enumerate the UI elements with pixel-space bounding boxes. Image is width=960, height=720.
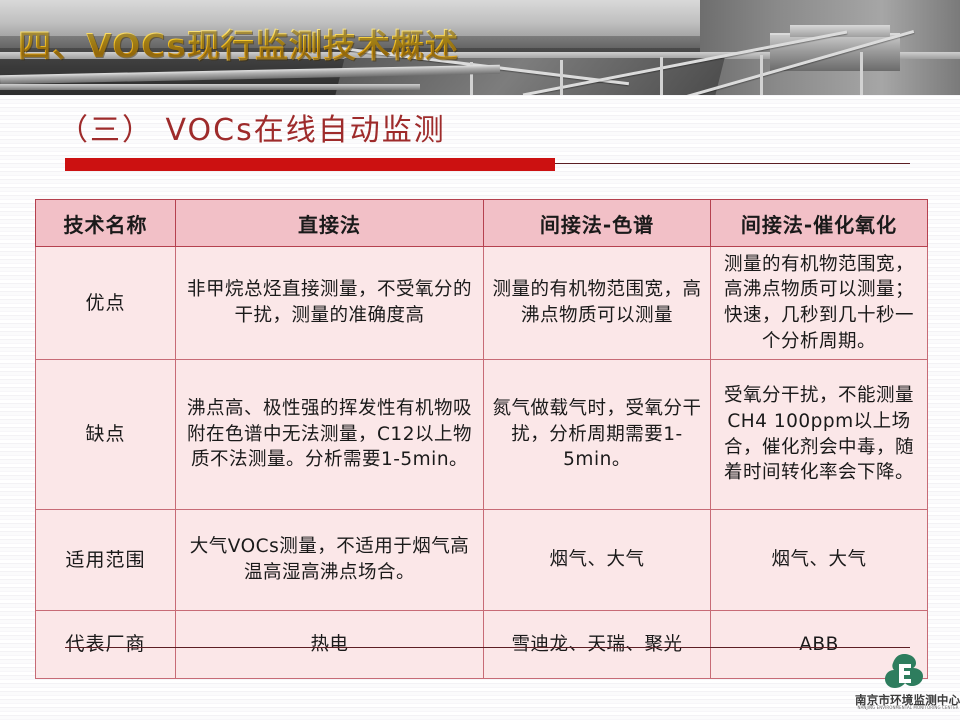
column-header-technique: 技术名称 (36, 200, 176, 247)
table-row: 适用范围 大气VOCs测量，不适用于烟气高温高湿高沸点场合。 烟气、大气 烟气、… (36, 510, 928, 611)
row-label-scope: 适用范围 (36, 510, 176, 611)
cell-scope-catalytic: 烟气、大气 (711, 510, 928, 611)
slide-canvas: 四、VOCs现行监测技术概述 四、VOCs现行监测技术概述 （三） VOCs在线… (0, 0, 960, 720)
table-row: 代表厂商 热电 雪迪龙、天瑞、聚光 ABB (36, 611, 928, 679)
table-body: 优点 非甲烷总烃直接测量，不受氧分的干扰，测量的准确度高 测量的有机物范围宽，高… (36, 247, 928, 679)
logo-name-en: NANJING ENVIRONMENTAL MONITORING CENTER (858, 705, 953, 710)
banner-rail-post (760, 55, 763, 95)
cell-scope-direct: 大气VOCs测量，不适用于烟气高温高湿高沸点场合。 (176, 510, 484, 611)
banner-title: 四、VOCs现行监测技术概述 (18, 26, 459, 66)
table-row: 优点 非甲烷总烃直接测量，不受氧分的干扰，测量的准确度高 测量的有机物范围宽，高… (36, 247, 928, 360)
organization-logo: 南京市环境监测中心站 NANJING ENVIRONMENTAL MONITOR… (855, 652, 955, 714)
cell-advantages-chromatography: 测量的有机物范围宽，高沸点物质可以测量 (484, 247, 711, 360)
cell-vendors-chromatography: 雪迪龙、天瑞、聚光 (484, 611, 711, 679)
column-header-indirect-catalytic-oxidation: 间接法-催化氧化 (711, 200, 928, 247)
cell-vendors-direct: 热电 (176, 611, 484, 679)
subtitle-accent-bar (65, 158, 555, 171)
table-row: 缺点 沸点高、极性强的挥发性有机物吸附在色谱中无法测量，C12以上物质不法测量。… (36, 360, 928, 510)
cell-disadvantages-direct: 沸点高、极性强的挥发性有机物吸附在色谱中无法测量，C12以上物质不法测量。分析需… (176, 360, 484, 510)
subtitle-thin-rule (555, 163, 910, 164)
section-subtitle: （三） VOCs在线自动监测 (58, 105, 446, 149)
column-header-indirect-chromatography: 间接法-色谱 (484, 200, 711, 247)
table-header-row: 技术名称 直接法 间接法-色谱 间接法-催化氧化 (36, 200, 928, 247)
banner-rail-post (560, 60, 563, 95)
comparison-table: 技术名称 直接法 间接法-色谱 间接法-催化氧化 优点 非甲烷总烃直接测量，不受… (35, 199, 928, 679)
row-label-vendors: 代表厂商 (36, 611, 176, 679)
cell-disadvantages-catalytic: 受氧分干扰，不能测量CH4 100ppm以上场合，催化剂会中毒，随着时间转化率会… (711, 360, 928, 510)
cell-advantages-catalytic: 测量的有机物范围宽，高沸点物质可以测量；快速，几秒到几十秒一个分析周期。 (711, 247, 928, 360)
table-header: 技术名称 直接法 间接法-色谱 间接法-催化氧化 (36, 200, 928, 247)
banner-rail-post (660, 57, 663, 95)
banner-rail-post (860, 52, 863, 95)
logo-emblem-icon (883, 652, 927, 692)
footer-rule (65, 647, 910, 648)
cell-advantages-direct: 非甲烷总烃直接测量，不受氧分的干扰，测量的准确度高 (176, 247, 484, 360)
row-label-disadvantages: 缺点 (36, 360, 176, 510)
cell-disadvantages-chromatography: 氮气做载气时，受氧分干扰，分析周期需要1-5min。 (484, 360, 711, 510)
comparison-table-container: 技术名称 直接法 间接法-色谱 间接法-催化氧化 优点 非甲烷总烃直接测量，不受… (35, 199, 927, 679)
cell-scope-chromatography: 烟气、大气 (484, 510, 711, 611)
column-header-direct-method: 直接法 (176, 200, 484, 247)
banner-pipe-lower (0, 84, 420, 90)
row-label-advantages: 优点 (36, 247, 176, 360)
